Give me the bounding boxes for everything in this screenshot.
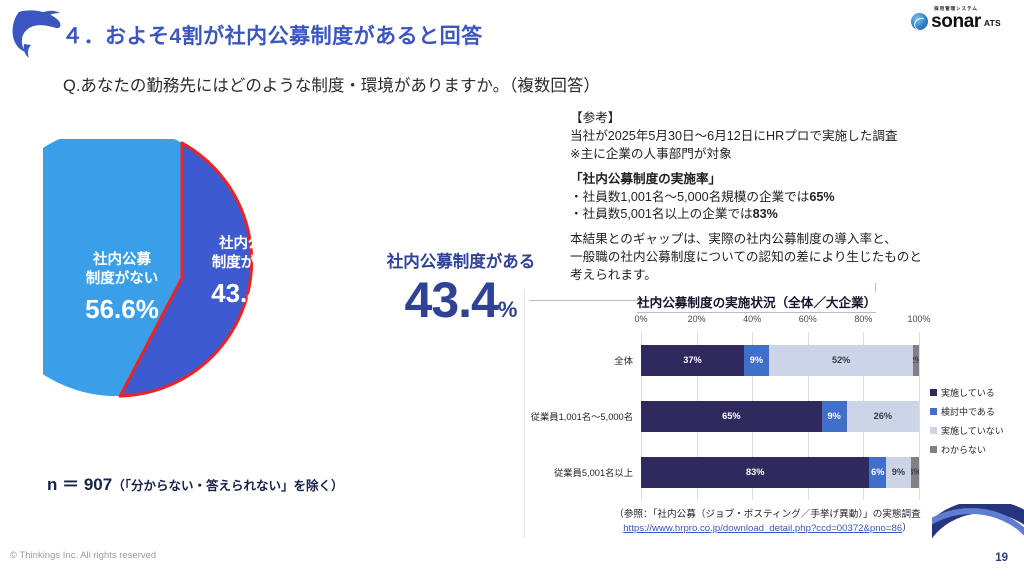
legend-label: 実施している bbox=[941, 386, 995, 399]
sample-size-note: n ＝ 907（「分からない・答えられない」を除く） bbox=[47, 470, 343, 495]
reference-paragraph-1: 本結果とのギャップは、実際の社内公募制度の導入率と、 bbox=[570, 231, 1018, 249]
bar-segment: 9% bbox=[744, 345, 769, 376]
grid-line bbox=[919, 332, 920, 500]
bar-segment: 37% bbox=[641, 345, 744, 376]
sonar-swirl-icon bbox=[911, 13, 928, 30]
reference-spacer-2 bbox=[570, 224, 1018, 231]
legend-swatch bbox=[930, 408, 937, 415]
bar-row-label: 全体 bbox=[614, 353, 633, 367]
bar-row-label: 従業員1,001名〜5,000名 bbox=[531, 409, 633, 423]
footer-copyright: © Thinkings Inc. All rights reserved bbox=[10, 550, 156, 561]
x-axis-tick: 60% bbox=[799, 314, 817, 324]
legend-label: 検討中である bbox=[941, 405, 995, 418]
bar-segment: 65% bbox=[641, 401, 822, 432]
reference-bullet-2: ・社員数5,001名以上の企業では83% bbox=[570, 206, 1018, 224]
source-note-line1: （参照：「社内公募（ジョブ・ポスティング／手挙げ異動）」の実態調査 bbox=[614, 509, 920, 520]
legend-item: 実施していない bbox=[930, 424, 1004, 437]
bar-row: 従業員5,001名以上83%6%9%3% bbox=[641, 457, 919, 488]
chart-legend: 実施している検討中である実施していないわからない bbox=[930, 386, 1004, 456]
callout-number: 43.4 bbox=[405, 272, 498, 328]
sample-size-caveat: （「分からない・答えられない」を除く） bbox=[112, 479, 343, 493]
source-note-suffix: ） bbox=[902, 523, 912, 534]
slide-canvas: ４．およそ4割が社内公募制度があると回答 Q.あなたの勤務先にはどのような制度・… bbox=[0, 0, 1024, 576]
bar-segment: 26% bbox=[847, 401, 919, 432]
legend-swatch bbox=[930, 389, 937, 396]
bar-row: 全体37%9%52%2% bbox=[641, 345, 919, 376]
reference-paragraph-3: 考えられます。 bbox=[570, 267, 1018, 285]
legend-item: わからない bbox=[930, 443, 1004, 456]
bar-segment: 9% bbox=[886, 457, 911, 488]
question-text: Q.あなたの勤務先にはどのような制度・環境がありますか。（複数回答） bbox=[63, 72, 600, 96]
reference-bullet-2-text: ・社員数5,001名以上の企業では bbox=[570, 207, 753, 221]
sample-size-value: n ＝ 907 bbox=[47, 475, 112, 494]
legend-label: わからない bbox=[941, 443, 986, 456]
x-axis-tick: 40% bbox=[743, 314, 761, 324]
embedded-bar-chart: 社内公募制度の実施状況（全体／大企業） 0%20%40%60%80%100%全体… bbox=[524, 290, 1010, 538]
page-number: 19 bbox=[995, 552, 1008, 564]
pie-chart: 社内公募 制度がない 56.6% 社内公募 制度がある 43.4% bbox=[43, 139, 321, 417]
embedded-chart-title: 社内公募制度の実施状況（全体／大企業） bbox=[637, 292, 876, 313]
reference-line-2: ※主に企業の人事部門が対象 bbox=[570, 146, 1018, 164]
source-url-link[interactable]: https://www.hrpro.co.jp/download_detail.… bbox=[623, 523, 902, 534]
logo-wordmark-row: sonar ATS bbox=[911, 13, 1001, 30]
legend-item: 実施している bbox=[930, 386, 1004, 399]
reference-subheading: 「社内公募制度の実施率」 bbox=[570, 171, 1018, 189]
reference-heading: 【参考】 bbox=[570, 110, 1018, 128]
x-axis-tick: 20% bbox=[688, 314, 706, 324]
reference-line-1: 当社が2025年5月30日〜6月12日にHRプロで実施した調査 bbox=[570, 128, 1018, 146]
corner-decoration bbox=[932, 504, 1024, 576]
pie-chart-svg bbox=[43, 139, 321, 417]
bar-segment: 9% bbox=[822, 401, 847, 432]
x-axis-tick: 80% bbox=[854, 314, 872, 324]
bar-segment: 2% bbox=[913, 345, 919, 376]
bar-segment: 83% bbox=[641, 457, 869, 488]
callout-label: 社内公募制度がある bbox=[366, 248, 556, 272]
x-axis-tick: 100% bbox=[907, 314, 930, 324]
bar-segment: 6% bbox=[869, 457, 886, 488]
legend-label: 実施していない bbox=[941, 424, 1004, 437]
sonar-ats-logo: 採用管理システム sonar ATS bbox=[896, 7, 1016, 37]
x-axis-tick: 0% bbox=[634, 314, 647, 324]
reference-bullet-1: ・社員数1,001名〜5,000名規模の企業では65% bbox=[570, 189, 1018, 207]
reference-bullet-1-value: 65% bbox=[809, 190, 834, 204]
reference-block: 【参考】 当社が2025年5月30日〜6月12日にHRプロで実施した調査 ※主に… bbox=[570, 110, 1018, 285]
logo-suffix: ATS bbox=[984, 18, 1001, 30]
bar-row: 従業員1,001名〜5,000名65%9%26% bbox=[641, 401, 919, 432]
dolphin-logo-icon bbox=[8, 4, 70, 60]
bar-segment: 3% bbox=[911, 457, 919, 488]
callout-unit: % bbox=[498, 297, 518, 322]
bar-chart-plot-area: 0%20%40%60%80%100%全体37%9%52%2%従業員1,001名〜… bbox=[641, 332, 919, 500]
bar-row-label: 従業員5,001名以上 bbox=[554, 465, 633, 479]
reference-spacer-1 bbox=[570, 164, 1018, 171]
reference-bullet-1-text: ・社員数1,001名〜5,000名規模の企業では bbox=[570, 190, 809, 204]
reference-paragraph-2: 一般職の社内公募制度についての認知の差により生じたものと bbox=[570, 249, 1018, 267]
corner-band-inner bbox=[932, 508, 1024, 576]
logo-wordmark: sonar bbox=[931, 13, 981, 30]
reference-bullet-2-value: 83% bbox=[753, 207, 778, 221]
page-title: ４．およそ4割が社内公募制度があると回答 bbox=[62, 20, 483, 50]
legend-swatch bbox=[930, 446, 937, 453]
legend-item: 検討中である bbox=[930, 405, 1004, 418]
bar-segment: 52% bbox=[769, 345, 914, 376]
legend-swatch bbox=[930, 427, 937, 434]
